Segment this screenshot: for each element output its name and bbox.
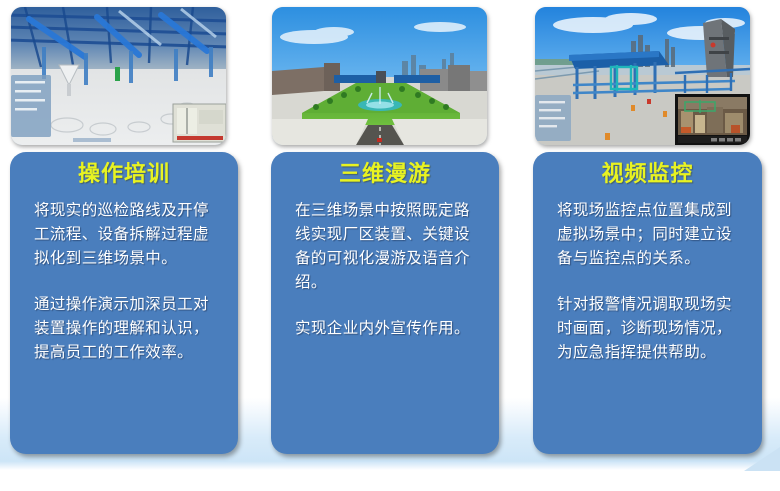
plant-exterior-illustration xyxy=(272,7,487,145)
card-body: 将现场监控点位置集成到虚拟场景中；同时建立设备与监控点的关系。 针对报警情况调取… xyxy=(557,198,746,364)
feature-card-three-dimensional-roaming[interactable]: 三维漫游 在三维场景中按照既定路线实现厂区装置、关键设备的可视化漫游及语音介绍。… xyxy=(271,152,499,454)
card-body: 在三维场景中按照既定路线实现厂区装置、关键设备的可视化漫游及语音介绍。 实现企业… xyxy=(295,198,483,340)
card-paragraph: 通过操作演示加深员工对装置操作的理解和认识，提高员工的工作效率。 xyxy=(34,292,222,364)
video-pip-panel xyxy=(675,94,750,145)
card-title: 三维漫游 xyxy=(271,160,499,190)
thumbnail-operation-training xyxy=(11,7,226,145)
video-surveillance-illustration xyxy=(535,7,750,145)
feature-card-operation-training[interactable]: 操作培训 将现实的巡检路线及开停工流程、设备拆解过程虚拟化到三维场景中。 通过操… xyxy=(10,152,238,454)
plant-interior-illustration xyxy=(11,7,226,145)
thumbnail-three-dimensional-roaming xyxy=(272,7,487,145)
card-body: 将现实的巡检路线及开停工流程、设备拆解过程虚拟化到三维场景中。 通过操作演示加深… xyxy=(34,198,222,364)
card-paragraph: 实现企业内外宣传作用。 xyxy=(295,316,483,340)
feature-card-video-surveillance[interactable]: 视频监控 将现场监控点位置集成到虚拟场景中；同时建立设备与监控点的关系。 针对报… xyxy=(533,152,762,454)
card-paragraph: 将现实的巡检路线及开停工流程、设备拆解过程虚拟化到三维场景中。 xyxy=(34,198,222,270)
feature-card-row: 操作培训 将现实的巡检路线及开停工流程、设备拆解过程虚拟化到三维场景中。 通过操… xyxy=(0,0,780,491)
card-paragraph: 针对报警情况调取现场实时画面，诊断现场情况，为应急指挥提供帮助。 xyxy=(557,292,746,364)
card-title: 操作培训 xyxy=(10,160,238,190)
card-paragraph: 在三维场景中按照既定路线实现厂区装置、关键设备的可视化漫游及语音介绍。 xyxy=(295,198,483,294)
thumbnail-video-surveillance xyxy=(535,7,750,145)
card-title: 视频监控 xyxy=(533,160,762,190)
card-paragraph: 将现场监控点位置集成到虚拟场景中；同时建立设备与监控点的关系。 xyxy=(557,198,746,270)
